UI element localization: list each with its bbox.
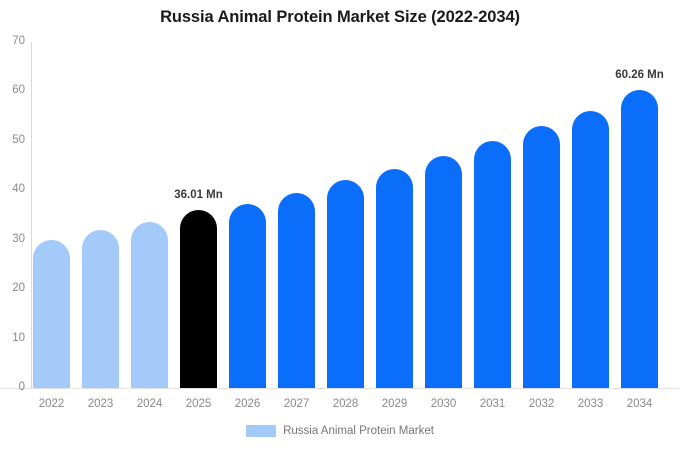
- legend-label-russia-animal-protein-market: Russia Animal Protein Market: [283, 425, 434, 437]
- bar-2030[interactable]: [425, 156, 462, 388]
- y-tick-label: 0: [1, 382, 25, 394]
- x-axis-line: [0, 388, 680, 389]
- y-tick-label: 20: [1, 283, 25, 295]
- bar-2022[interactable]: [33, 240, 70, 388]
- x-tick-label-2030: 2030: [425, 398, 462, 410]
- bar-rect-2034[interactable]: [621, 90, 658, 388]
- x-tick-label-2024: 2024: [131, 398, 168, 410]
- x-tick-label-2028: 2028: [327, 398, 364, 410]
- y-axis-tick-labels: 010203040506070: [0, 0, 25, 450]
- bar-2034[interactable]: [621, 90, 658, 388]
- x-tick-label-2029: 2029: [376, 398, 413, 410]
- bar-2033[interactable]: [572, 111, 609, 388]
- bar-chart: Russia Animal Protein Market Size (2022-…: [0, 0, 680, 450]
- bar-2026[interactable]: [229, 204, 266, 388]
- bar-rect-2025[interactable]: [180, 210, 217, 388]
- y-tick-label: 40: [1, 184, 25, 196]
- chart-legend: Russia Animal Protein Market: [0, 425, 680, 437]
- x-tick-label-2027: 2027: [278, 398, 315, 410]
- bar-2029[interactable]: [376, 169, 413, 388]
- bar-value-label-2025: 36.01 Mn: [154, 189, 244, 201]
- y-tick-label: 50: [1, 135, 25, 147]
- x-tick-label-2026: 2026: [229, 398, 266, 410]
- bar-2032[interactable]: [523, 126, 560, 388]
- bar-2027[interactable]: [278, 193, 315, 388]
- x-tick-label-2031: 2031: [474, 398, 511, 410]
- bar-rect-2024[interactable]: [131, 222, 168, 388]
- x-tick-label-2033: 2033: [572, 398, 609, 410]
- bar-rect-2023[interactable]: [82, 230, 119, 388]
- bar-rect-2026[interactable]: [229, 204, 266, 388]
- y-tick-label: 60: [1, 85, 25, 97]
- y-tick-label: 10: [1, 333, 25, 345]
- bar-2025[interactable]: [180, 210, 217, 388]
- bar-2024[interactable]: [131, 222, 168, 388]
- bar-rect-2031[interactable]: [474, 141, 511, 388]
- bar-2028[interactable]: [327, 180, 364, 388]
- bar-rect-2028[interactable]: [327, 180, 364, 388]
- x-tick-label-2032: 2032: [523, 398, 560, 410]
- x-tick-label-2034: 2034: [621, 398, 658, 410]
- bar-rect-2029[interactable]: [376, 169, 413, 388]
- x-tick-label-2022: 2022: [33, 398, 70, 410]
- chart-title: Russia Animal Protein Market Size (2022-…: [0, 8, 680, 27]
- bar-rect-2030[interactable]: [425, 156, 462, 388]
- x-tick-label-2025: 2025: [180, 398, 217, 410]
- bar-value-label-2034: 60.26 Mn: [595, 69, 680, 81]
- x-tick-label-2023: 2023: [82, 398, 119, 410]
- legend-swatch-russia-animal-protein-market: [246, 425, 276, 437]
- y-tick-label: 30: [1, 234, 25, 246]
- bar-rect-2027[interactable]: [278, 193, 315, 388]
- bar-rect-2022[interactable]: [33, 240, 70, 388]
- bar-2031[interactable]: [474, 141, 511, 388]
- bar-rect-2032[interactable]: [523, 126, 560, 388]
- bar-rect-2033[interactable]: [572, 111, 609, 388]
- bar-2023[interactable]: [82, 230, 119, 388]
- y-tick-label: 70: [1, 36, 25, 48]
